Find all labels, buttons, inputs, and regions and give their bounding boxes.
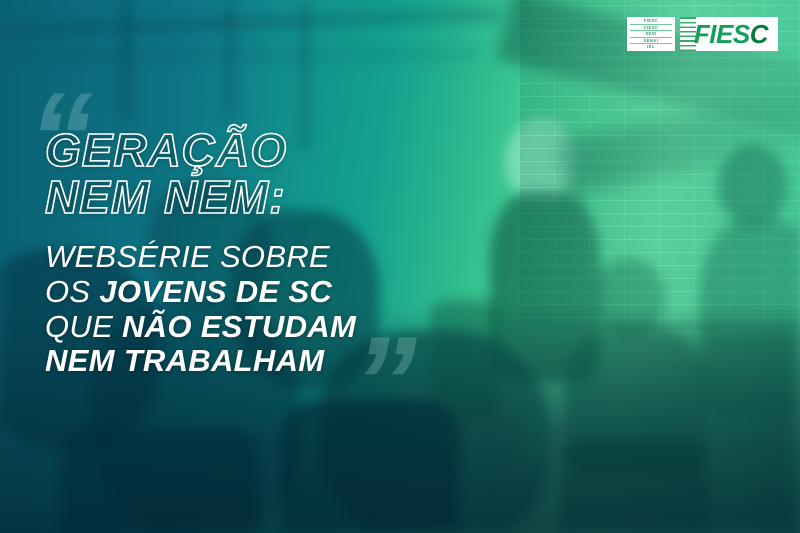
subhead-bold-2: JOVENS DE SC	[99, 274, 332, 309]
fiesc-wordmark-tail: C	[750, 19, 768, 49]
fiesc-wordmark-main: FIES	[694, 19, 750, 49]
subhead-line-2: OS JOVENS DE SC	[45, 275, 515, 310]
headline-line-1: GERAÇÃO	[45, 128, 515, 173]
fiesc-logo-wordmark-box: FIESC	[680, 17, 778, 51]
subhead-line-1: WEBSÉRIE SOBRE	[45, 240, 515, 275]
subhead-line-4: NEM TRABALHAM	[45, 344, 515, 379]
subhead-bold-3: NÃO ESTUDAM	[122, 309, 356, 344]
headline-line-2: NEM NEM:	[45, 175, 515, 220]
subhead-bold-4: NEM TRABALHAM	[45, 343, 324, 378]
subhead-thin-1: WEBSÉRIE SOBRE	[45, 239, 330, 274]
fiesc-logo[interactable]: FIESC CIESC SESI SENAI IEL FIESC	[627, 17, 778, 51]
headline-block: GERAÇÃO NEM NEM: WEBSÉRIE SOBRE OS JOVEN…	[45, 128, 515, 379]
subhead-thin-3: QUE	[45, 309, 122, 344]
fiesc-wordmark: FIESC	[694, 21, 768, 47]
promo-banner: “ ” GERAÇÃO NEM NEM: WEBSÉRIE SOBRE OS J…	[0, 0, 800, 533]
fiesc-logo-entities: FIESC CIESC SESI SENAI IEL	[627, 17, 675, 51]
subhead-thin-2: OS	[45, 274, 99, 309]
subhead-line-3: QUE NÃO ESTUDAM	[45, 310, 515, 345]
logo-entity-4: IEL	[630, 44, 672, 49]
